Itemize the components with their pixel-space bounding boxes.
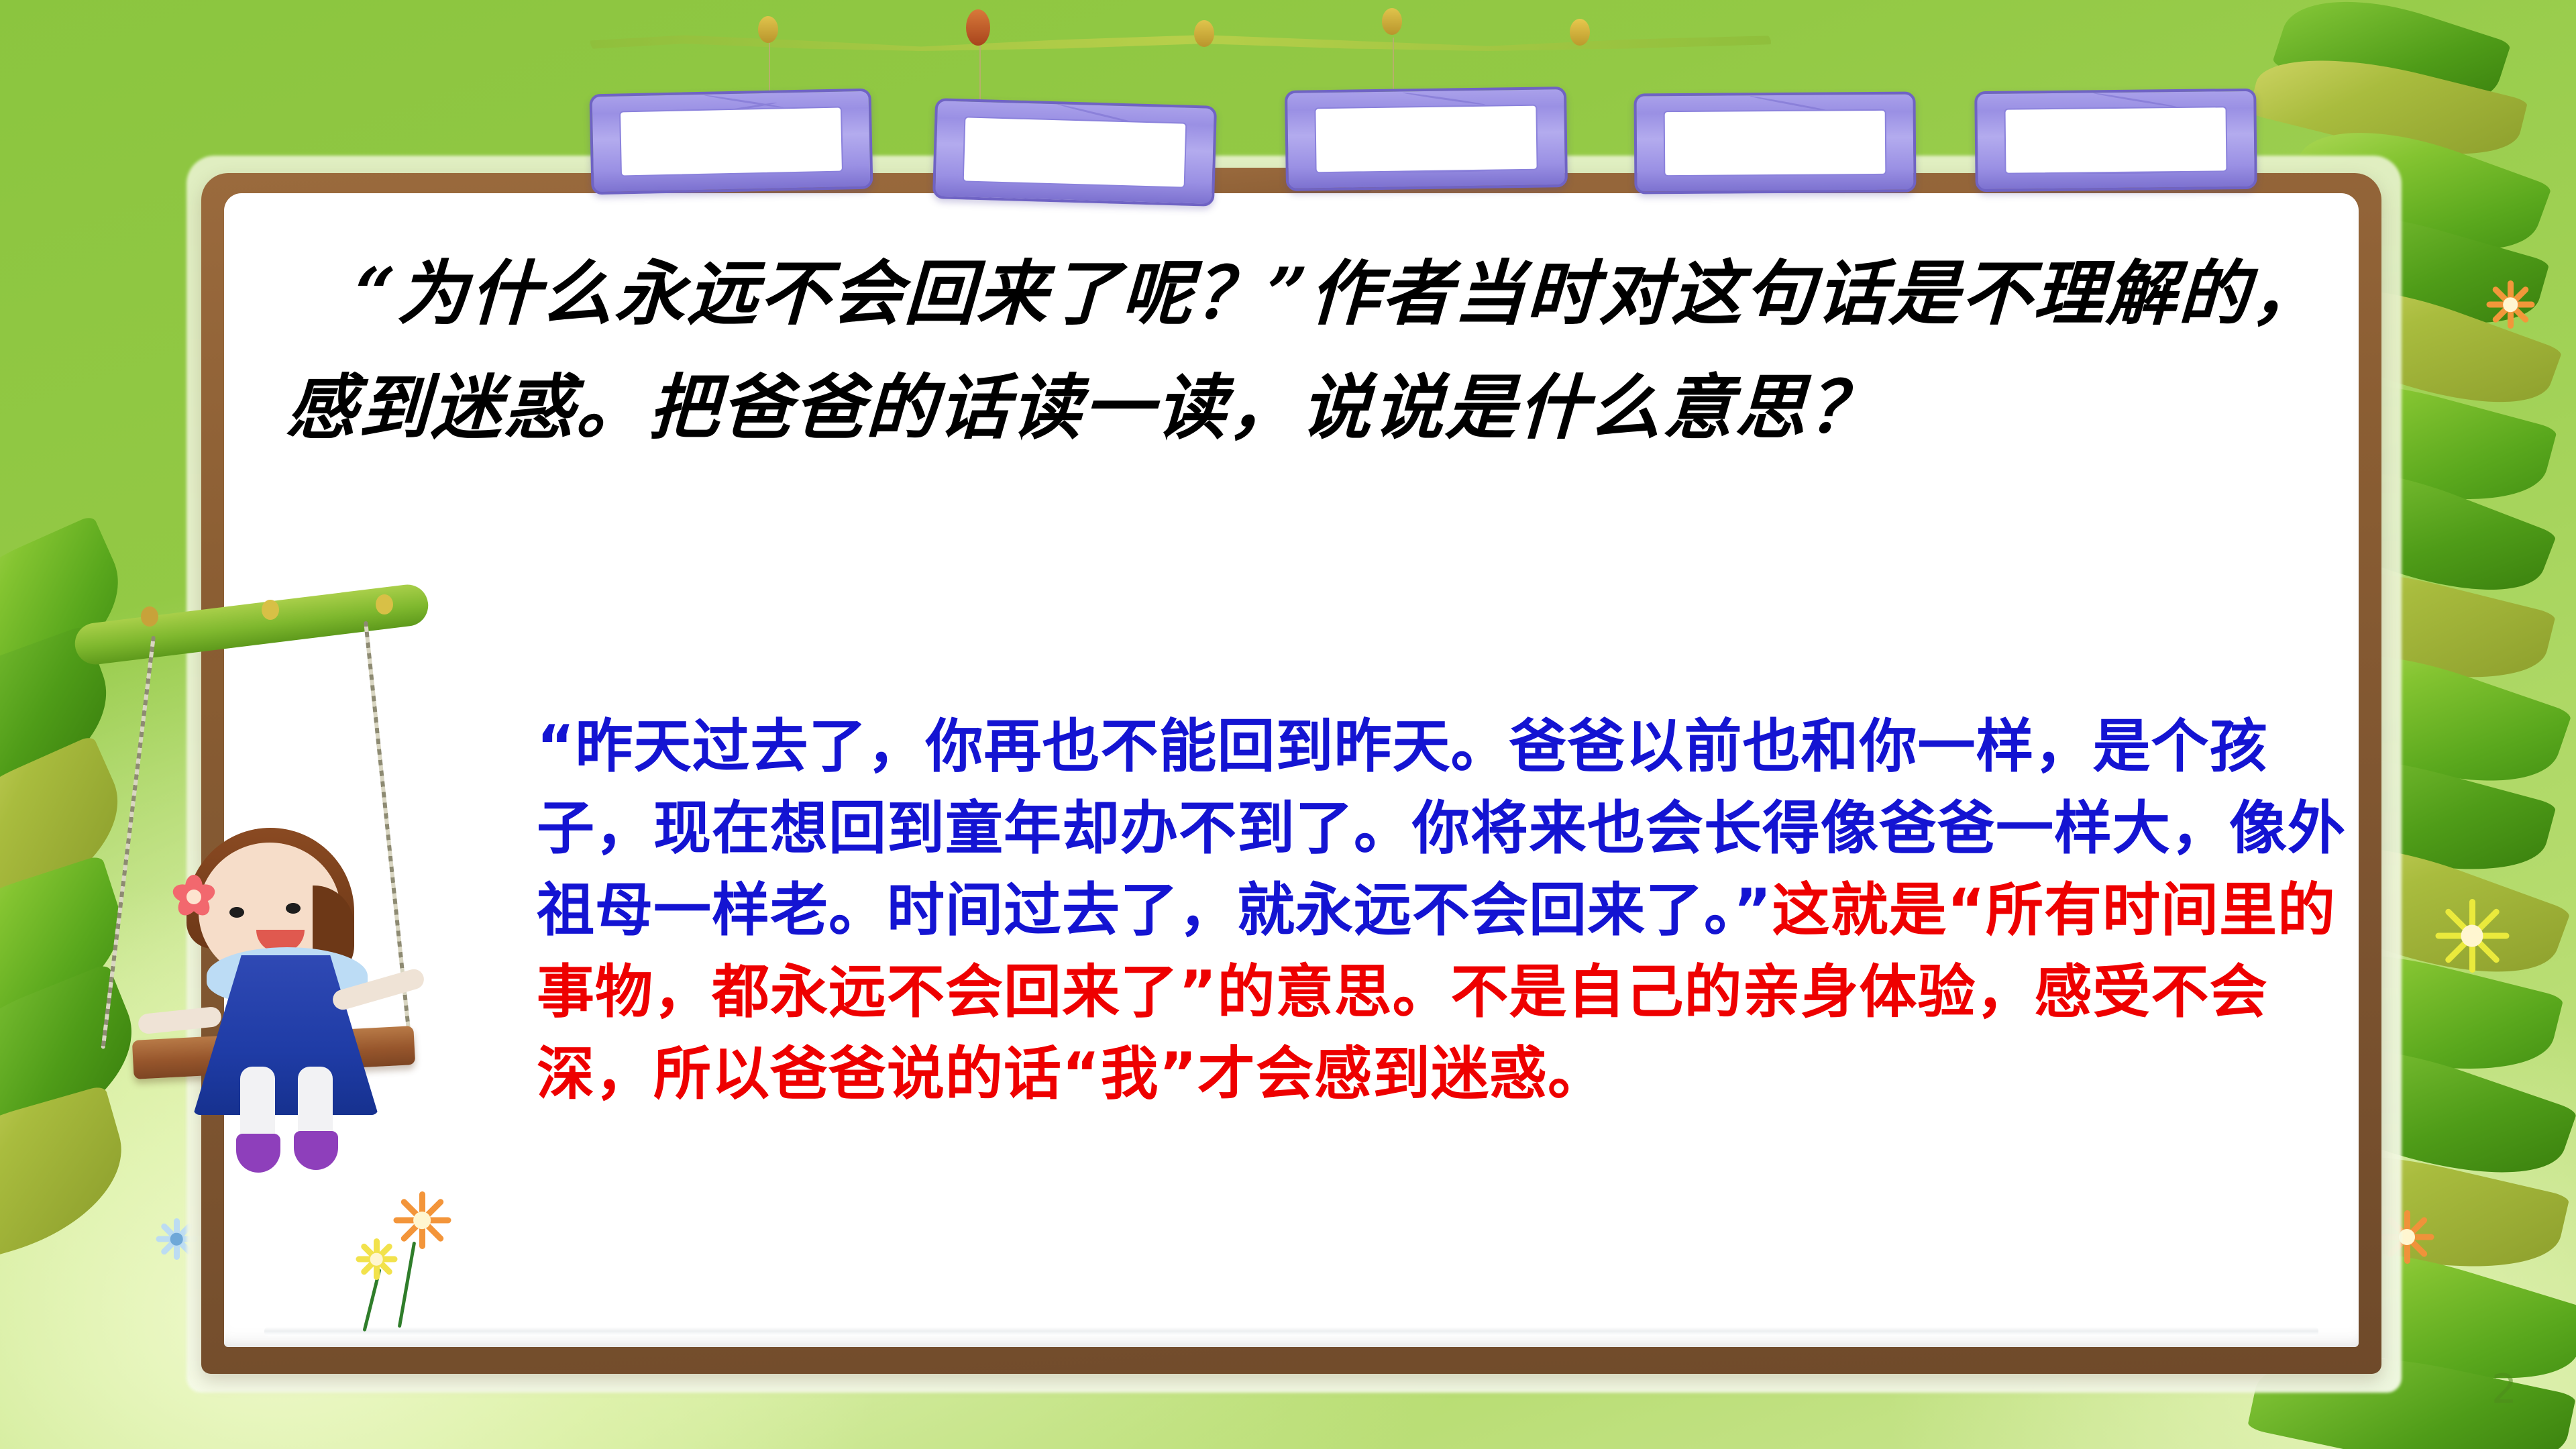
plaque-2[interactable] bbox=[932, 98, 1217, 207]
plaque-label bbox=[1285, 87, 1568, 191]
girl-eye-right bbox=[286, 903, 301, 914]
swing-rope-left bbox=[101, 636, 156, 1049]
girl-arm-left bbox=[138, 1006, 222, 1035]
branch-bud bbox=[262, 600, 279, 620]
vine-bud bbox=[758, 16, 778, 43]
girl-shoe-left bbox=[236, 1134, 280, 1173]
girl-shoe-right bbox=[294, 1131, 338, 1170]
yellow-star-flower bbox=[2435, 899, 2509, 973]
plaque-3[interactable] bbox=[1285, 87, 1568, 191]
vine-bud bbox=[1570, 19, 1590, 46]
plaque-4[interactable] bbox=[1633, 92, 1916, 195]
page-bottom-rule bbox=[264, 1327, 2318, 1336]
page-number: 2 bbox=[2491, 1366, 2517, 1413]
heading-text: “为什么永远不会回来了呢？”作者当时对这句话是不理解的，感到迷惑。把爸爸的话读一… bbox=[284, 236, 2345, 464]
yellow-star-flower bbox=[356, 1238, 397, 1280]
plaque-1[interactable] bbox=[589, 89, 873, 195]
girl-hair-flower bbox=[169, 872, 219, 922]
orange-star-flower bbox=[2486, 280, 2534, 329]
girl-on-swing bbox=[60, 604, 436, 1207]
plaque-label bbox=[1633, 92, 1916, 195]
plaque-label bbox=[589, 89, 873, 195]
vine-bud bbox=[1382, 8, 1402, 35]
girl-eye-left bbox=[229, 907, 244, 918]
plaque-row bbox=[590, 87, 2321, 208]
branch-bud bbox=[141, 606, 158, 627]
vine-bud bbox=[1194, 20, 1214, 47]
plaque-label bbox=[1974, 89, 2257, 192]
plaque-5[interactable] bbox=[1974, 89, 2257, 192]
vine-bud bbox=[966, 9, 990, 46]
branch-bud bbox=[376, 594, 393, 614]
slide-canvas: “为什么永远不会回来了呢？”作者当时对这句话是不理解的，感到迷惑。把爸爸的话读一… bbox=[0, 0, 2576, 1449]
top-vine-decoration bbox=[590, 0, 1771, 87]
plaque-label bbox=[932, 98, 1217, 207]
body-text: “昨天过去了，你再也不能回到昨天。爸爸以前也和你一样，是个孩子，现在想回到童年却… bbox=[537, 706, 2348, 1116]
orange-star-flower bbox=[393, 1191, 451, 1249]
